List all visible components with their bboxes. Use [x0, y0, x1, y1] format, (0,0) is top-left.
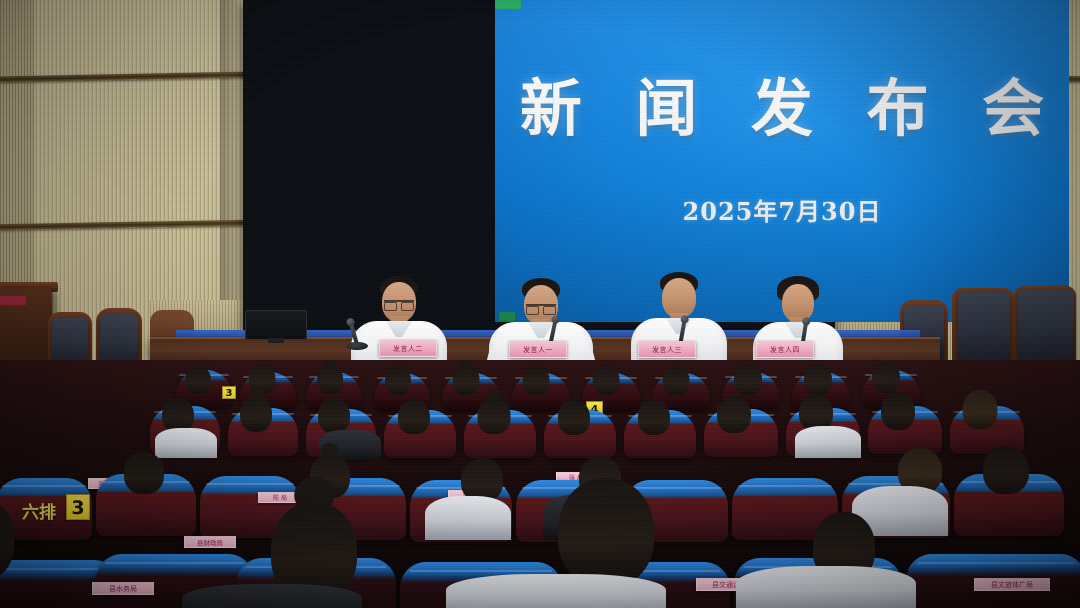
audience-member-head [593, 365, 620, 395]
speaker-1-glasses-icon [384, 300, 414, 308]
row-label-six: 六排 [22, 498, 56, 523]
audience-member-head [804, 364, 832, 395]
audience-member-head [385, 366, 411, 395]
audience-member-head [963, 390, 998, 429]
audience-member-head [663, 366, 690, 395]
audience-member-head [317, 364, 343, 394]
seat-dept-label: 县文旅体广局 [974, 578, 1050, 591]
speaker-4 [752, 276, 844, 346]
speaker-2-glasses-icon [526, 304, 556, 312]
slide-title: 新 闻 发 布 会 [495, 78, 1069, 140]
audience-member-head [185, 366, 211, 394]
side-chair-right-3-cushion [1018, 290, 1074, 362]
seat-number-tag: 3 [222, 386, 236, 399]
speaker-2-placard-text: 发言人一 [510, 342, 566, 358]
speaker-1-name-placard: 发言人二 [379, 340, 437, 357]
audience-member-shoulders [425, 496, 511, 540]
side-chair-left-2-cushion [100, 314, 138, 366]
monitor [245, 310, 307, 340]
speaker-3-name-placard: 发言人三 [638, 341, 696, 358]
audience-member-head [398, 400, 430, 434]
speaker-3-head [662, 278, 696, 318]
audience-member-head [558, 400, 590, 435]
audience-member-head [162, 398, 194, 432]
speaker-4-placard-text: 发言人四 [757, 342, 813, 358]
side-chair-right-2-cushion [958, 292, 1010, 362]
audience-member-head [124, 452, 164, 494]
slide-date: 2025年7月30日 [495, 192, 1069, 227]
audience-member-shoulders-front [736, 566, 916, 608]
audience-member-head [717, 396, 751, 433]
seat-dept-label: 县水务局 [92, 582, 154, 595]
side-chair-left-1-cushion [52, 318, 88, 366]
audience-member-head [478, 398, 511, 434]
audience-member-head [734, 364, 762, 395]
speaker-4-name-placard: 发言人四 [756, 341, 814, 358]
monitor-stand [268, 338, 284, 343]
audience-member-shoulders-front [182, 584, 362, 608]
seat-number-tag-row-six: 3 [66, 494, 90, 520]
speaker-1-mic-base [346, 342, 368, 350]
audience-member-head [453, 365, 480, 395]
audience-member-head [983, 446, 1029, 494]
audience-member-head [240, 396, 272, 432]
audience-area: 3 4 叶县委 张 局 李 局 [0, 360, 1080, 608]
speaker-3 [630, 272, 728, 344]
audience-member-head [523, 366, 550, 395]
audience-member-shoulders [795, 426, 861, 458]
projection-screen: 新 闻 发 布 会 2025年7月30日 [495, 0, 1069, 322]
screenshot-root: 新 闻 发 布 会 2025年7月30日 [0, 0, 1080, 608]
audience-member-shoulders-front [446, 574, 666, 608]
audience-member-head [638, 400, 670, 435]
audience-member-head [318, 398, 350, 433]
green-corner-mark-icon [495, 0, 521, 9]
speaker-2-name-placard: 发言人一 [509, 341, 567, 358]
audience-member-head [881, 392, 915, 430]
audience-member-shoulders [155, 428, 217, 458]
seat-dept-label: 县财政局 [184, 536, 236, 548]
podium-banner-mark [0, 296, 26, 305]
speaker-2 [489, 278, 593, 348]
audience-member-head-front [558, 478, 654, 586]
audience-member-head [872, 362, 900, 393]
speaker-1 [351, 276, 447, 346]
speaker-3-placard-text: 发言人三 [639, 342, 695, 358]
speaker-1-placard-text: 发言人二 [380, 341, 436, 357]
